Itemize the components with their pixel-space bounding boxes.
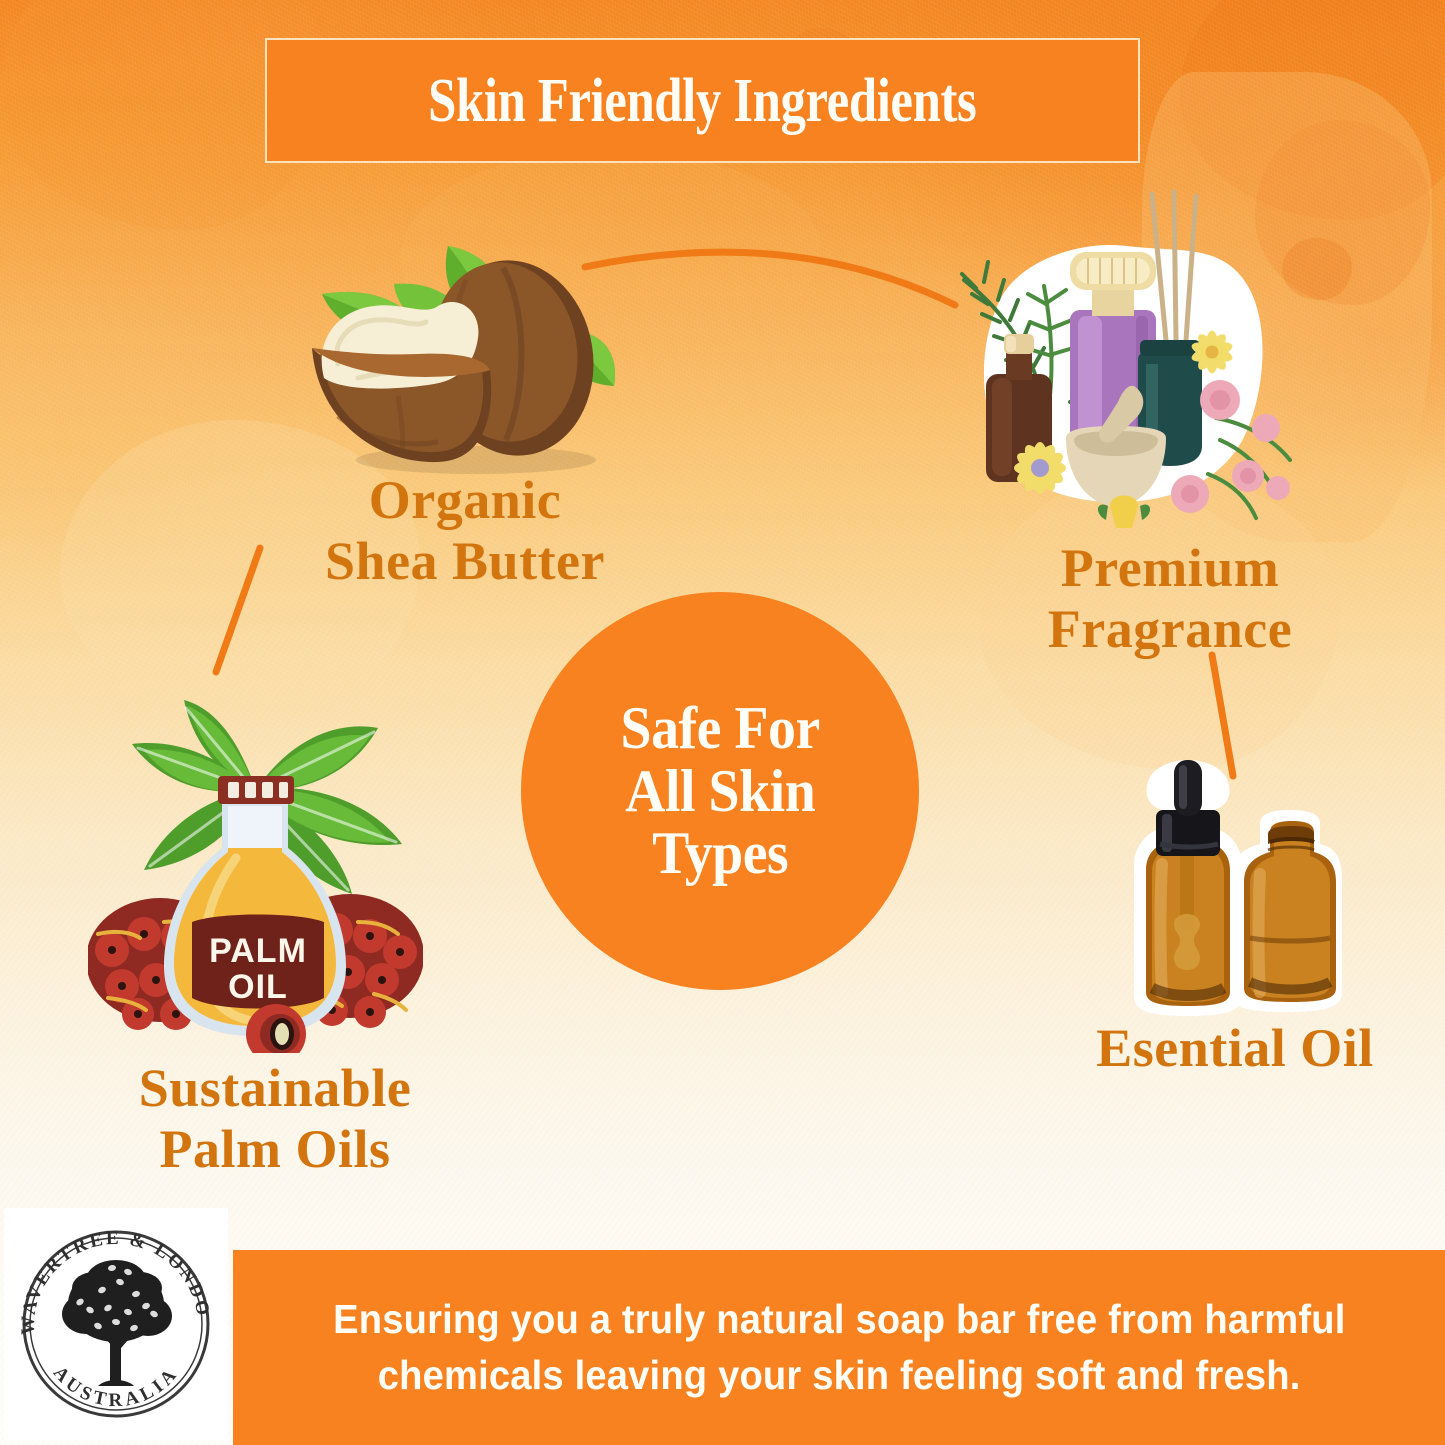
footer-banner: Ensuring you a truly natural soap bar fr… [233, 1250, 1445, 1445]
fragrance-bottles-icon [948, 188, 1298, 543]
ingredient-label-shea-butter: Organic Shea Butter [230, 470, 700, 592]
ingredient-label-essential-oil: Esential Oil [1020, 1018, 1445, 1079]
tree-icon [62, 1260, 172, 1386]
footer-line: chemicals leaving your skin feeling soft… [378, 1348, 1301, 1403]
svg-text:OIL: OIL [228, 968, 288, 1006]
ingredient-label-line: Esential Oil [1020, 1018, 1445, 1079]
page-title: Skin Friendly Ingredients [428, 70, 976, 132]
ingredient-label-line: Organic [230, 470, 700, 531]
connector-shea-to-fragrance [585, 252, 955, 305]
infographic-canvas: Skin Friendly Ingredients [0, 0, 1445, 1445]
shea-nut-icon [298, 228, 628, 483]
badge-line: Safe For [620, 697, 819, 759]
wavertree-and-london-logo: WAVERTREE & LONDON AUSTRALIA [4, 1208, 228, 1440]
ingredient-label-line: Shea Butter [230, 531, 700, 592]
badge-line: Types [652, 822, 788, 884]
ingredient-label-line: Palm Oils [40, 1119, 510, 1180]
header-banner: Skin Friendly Ingredients [265, 38, 1140, 163]
ingredient-label-premium-fragrance: Premium Fragrance [955, 538, 1385, 660]
svg-text:PALM: PALM [209, 932, 307, 970]
palm-oil-bottle-icon: PALM OIL [88, 698, 423, 1053]
ingredient-label-sustainable-palm-oils: Sustainable Palm Oils [40, 1058, 510, 1180]
amber-dropper-bottles-icon [1118, 748, 1343, 1023]
ingredient-label-line: Sustainable [40, 1058, 510, 1119]
ingredient-label-line: Fragrance [955, 599, 1385, 660]
watercolor-blotch [1180, 0, 1445, 220]
ingredient-label-line: Premium [955, 538, 1385, 599]
safe-for-all-skin-types-badge: Safe For All Skin Types [521, 592, 919, 990]
badge-line: All Skin [625, 760, 815, 822]
footer-line: Ensuring you a truly natural soap bar fr… [333, 1292, 1345, 1347]
